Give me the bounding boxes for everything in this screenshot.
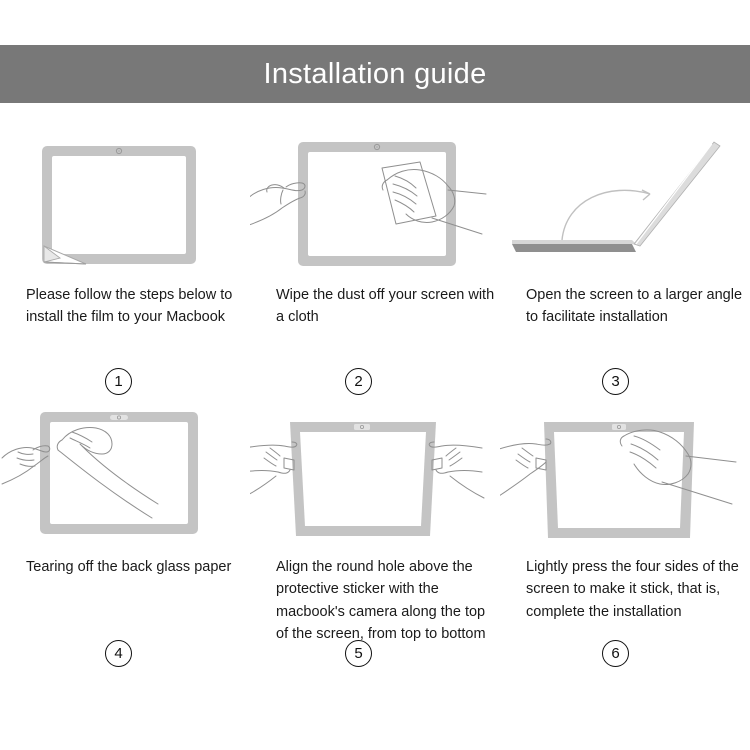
step-card-2: Wipe the dust off your screen with a clo… <box>250 128 500 400</box>
two-hands-aligning-film-icon <box>250 400 500 550</box>
step-3-illustration <box>500 128 750 278</box>
step-badge-3: 3 <box>602 368 629 395</box>
step-card-4: Tearing off the back glass paper 4 <box>0 400 250 672</box>
laptop-side-profile-opening-lid-icon <box>500 128 750 278</box>
step-badge-6: 6 <box>602 640 629 667</box>
steps-grid: Please follow the steps below to install… <box>0 128 750 738</box>
step-card-5: Align the round hole above the protectiv… <box>250 400 500 672</box>
step-2-illustration <box>250 128 500 278</box>
header-banner: Installation guide <box>0 45 750 103</box>
step-1-caption: Please follow the steps below to install… <box>26 284 248 329</box>
step-6-illustration <box>500 400 750 550</box>
step-5-illustration <box>250 400 500 550</box>
step-card-1: Please follow the steps below to install… <box>0 128 250 400</box>
step-badge-5: 5 <box>345 640 372 667</box>
step-badge-1: 1 <box>105 368 132 395</box>
step-2-caption: Wipe the dust off your screen with a clo… <box>276 284 498 329</box>
hands-tearing-back-paper-icon <box>0 400 250 550</box>
step-card-6: Lightly press the four sides of the scre… <box>500 400 750 672</box>
hand-pressing-screen-edges-icon <box>500 400 750 550</box>
step-5-caption: Align the round hole above the protectiv… <box>276 556 490 646</box>
step-3-caption: Open the screen to a larger angle to fac… <box>526 284 748 329</box>
step-4-illustration <box>0 400 250 550</box>
page-title: Installation guide <box>263 58 486 91</box>
hand-wiping-screen-with-cloth-icon <box>250 128 500 278</box>
screen-with-peeling-film-corner-icon <box>0 128 250 278</box>
step-6-caption: Lightly press the four sides of the scre… <box>526 556 748 623</box>
step-card-3: Open the screen to a larger angle to fac… <box>500 128 750 400</box>
step-badge-4: 4 <box>105 640 132 667</box>
step-badge-2: 2 <box>345 368 372 395</box>
step-1-illustration <box>0 128 250 278</box>
step-4-caption: Tearing off the back glass paper <box>26 556 248 578</box>
